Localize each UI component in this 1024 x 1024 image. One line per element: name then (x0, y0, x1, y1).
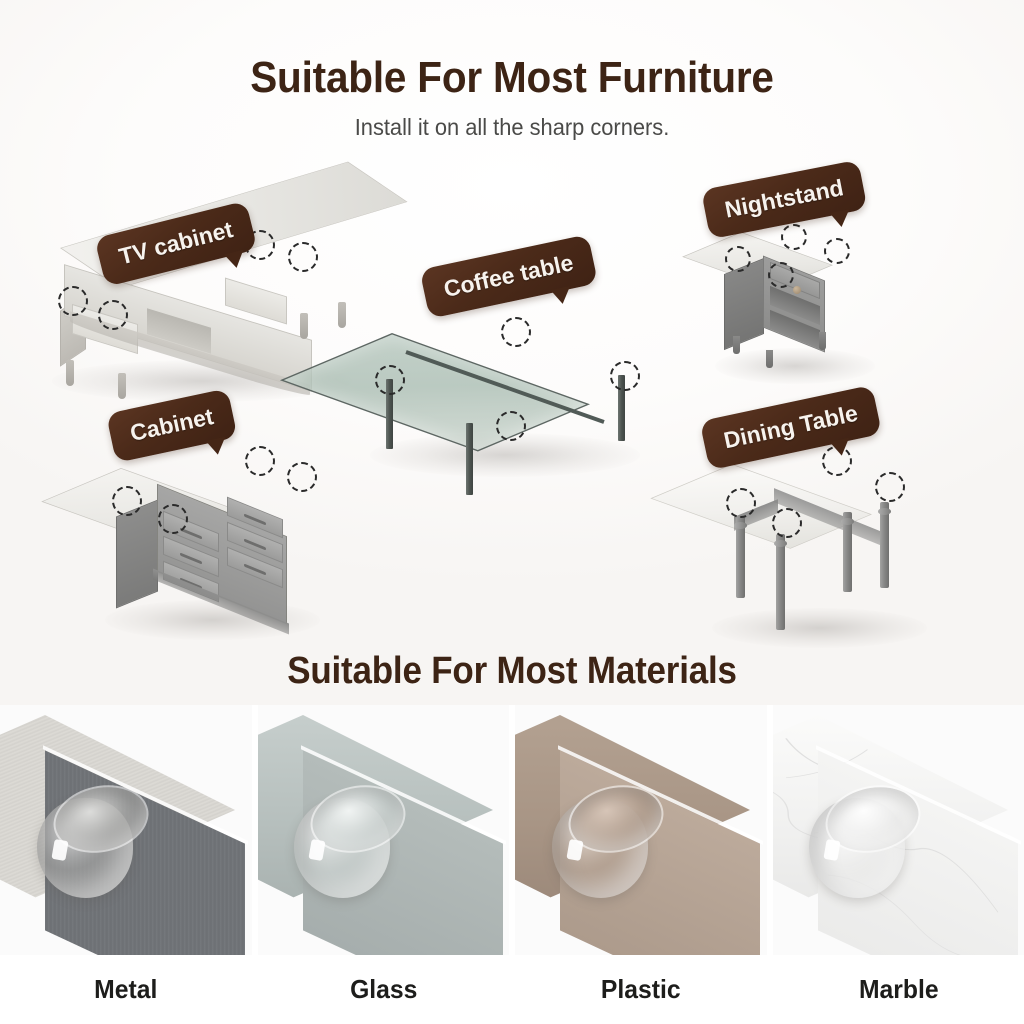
corner-marker (245, 446, 275, 476)
corner-marker (288, 242, 318, 272)
page-subtitle: Install it on all the sharp corners. (26, 114, 999, 141)
guard-highlight (566, 838, 583, 860)
nightstand-side-panel (724, 258, 764, 350)
furniture-cabinet: Cabinet (105, 450, 345, 630)
dining-table-leg (880, 502, 889, 588)
corner-marker (287, 462, 317, 492)
label-coffee-table: Coffee table (419, 234, 597, 319)
material-cell-marble: Marble (773, 705, 1024, 1024)
infographic-canvas: Suitable For Most Furniture Install it o… (0, 0, 1024, 1024)
label-dining-table: Dining Table (700, 385, 883, 471)
guard-highlight (51, 838, 68, 860)
nightstand-leg (819, 332, 826, 350)
material-cell-metal: Metal (0, 705, 252, 1024)
material-label-glass: Glass (264, 955, 503, 1024)
coffee-table-leg (466, 423, 473, 495)
corner-marker (725, 246, 751, 272)
material-label-marble: Marble (779, 955, 1018, 1024)
material-cell-plastic: Plastic (515, 705, 767, 1024)
corner-marker (112, 486, 142, 516)
corner-marker (58, 286, 88, 316)
corner-marker (875, 472, 905, 502)
corner-guard-metal (33, 788, 149, 904)
material-photo-metal (0, 705, 252, 955)
page-title-materials: Suitable For Most Materials (41, 648, 983, 694)
floor-shadow (715, 348, 875, 384)
corner-marker (501, 317, 531, 347)
nightstand-leg (733, 336, 740, 354)
corner-marker (375, 365, 405, 395)
tv-cabinet-leg (66, 360, 74, 386)
corner-guard-glass (290, 788, 406, 904)
corner-guard-marble (805, 788, 921, 904)
corner-marker (824, 238, 850, 264)
dining-table-leg (776, 534, 785, 630)
corner-marker (98, 300, 128, 330)
dining-table-leg (736, 516, 745, 598)
materials-strip: Metal Glass (0, 705, 1024, 1024)
page-title-furniture: Suitable For Most Furniture (41, 52, 983, 104)
corner-marker (768, 262, 794, 288)
corner-marker (772, 508, 802, 538)
tv-cabinet-leg (300, 313, 308, 339)
corner-marker (158, 504, 188, 534)
tv-cabinet-leg (118, 373, 126, 399)
nightstand-leg (766, 350, 773, 368)
furniture-dining-table: Dining Table (712, 450, 942, 640)
cabinet-side-panel (116, 500, 158, 609)
furniture-illustrations: TV cabinet Coffee table (0, 150, 1024, 650)
material-label-metal: Metal (6, 955, 245, 1024)
material-cell-glass: Glass (258, 705, 510, 1024)
furniture-nightstand: Nightstand (723, 220, 883, 380)
corner-marker (496, 411, 526, 441)
dining-table-leg (843, 512, 852, 592)
material-photo-glass (258, 705, 510, 955)
material-label-plastic: Plastic (521, 955, 760, 1024)
furniture-coffee-table: Coffee table (370, 325, 660, 465)
floor-shadow (712, 608, 927, 648)
material-photo-marble (773, 705, 1024, 955)
corner-marker (781, 224, 807, 250)
nightstand-drawer-knob (793, 286, 801, 294)
material-photo-plastic (515, 705, 767, 955)
corner-marker (726, 488, 756, 518)
corner-marker (610, 361, 640, 391)
corner-guard-plastic (548, 788, 664, 904)
tv-cabinet-leg (338, 302, 346, 328)
